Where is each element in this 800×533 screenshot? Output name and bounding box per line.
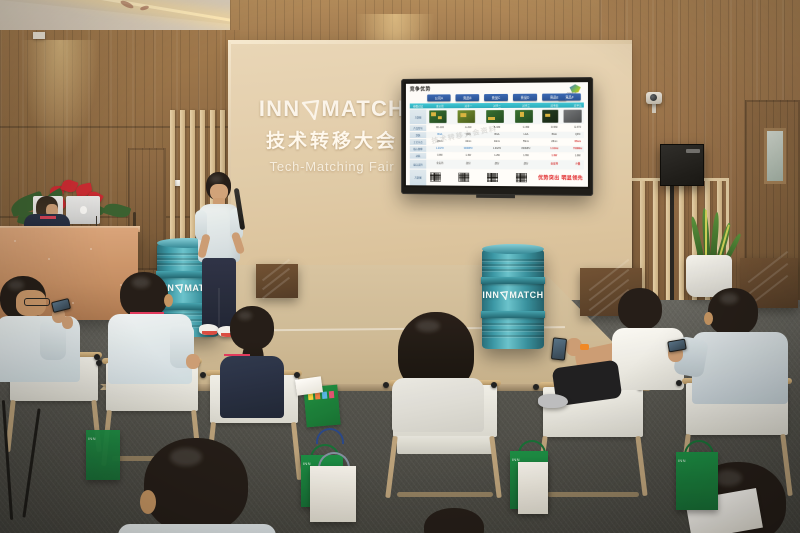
table-cell: 全支持 bbox=[427, 161, 452, 165]
right-barrel: INN MATCH bbox=[482, 249, 544, 349]
screen-foot bbox=[476, 195, 514, 198]
conference-photo-scene: INN MATCH 技术转移大会 Tech-Matching Fair 竞争优势… bbox=[0, 0, 800, 533]
laptop-logo-icon bbox=[80, 206, 87, 214]
brand-chinese-title: 技术转移大会 bbox=[252, 126, 412, 153]
table-cell: 1.0GHz bbox=[484, 147, 510, 150]
row-label: 封装 bbox=[410, 132, 426, 138]
audience-hand bbox=[186, 354, 200, 369]
header-cell: 对手四 bbox=[542, 103, 566, 107]
table-cell: 部分 bbox=[456, 161, 482, 165]
slide-column-badge: 公司A bbox=[427, 94, 450, 101]
header-cell: 对手二 bbox=[484, 104, 510, 108]
smartphone-2[interactable] bbox=[551, 337, 567, 360]
row-label: 接口支持 bbox=[410, 160, 426, 169]
brand-paperplane-icon bbox=[301, 99, 320, 119]
table-cell: D-560 bbox=[542, 126, 566, 129]
row-label: 产品型号 bbox=[410, 125, 426, 131]
white-tote-bag-2 bbox=[518, 462, 548, 514]
highlight-label: 优势突出 bbox=[538, 174, 559, 181]
brand-wordmark: INN MATCH bbox=[252, 98, 412, 120]
door-window bbox=[764, 128, 786, 184]
table-cell: BGA bbox=[542, 133, 566, 136]
barrel-paperplane-icon bbox=[500, 291, 508, 300]
slide-table-row: 核心频率 1.2GHz 900MHz 1.0GHz 800MHz 1.1GHz … bbox=[410, 146, 584, 152]
glasses-icon bbox=[24, 298, 50, 306]
slide-column-badge: 竞品F bbox=[558, 93, 580, 100]
audience-hand bbox=[62, 316, 73, 329]
presentation-screen: 竞争优势 创新矩阵 公司A 竞品B 竞品C 竞品D 竞品E 竞品F 参数对比 本… bbox=[401, 77, 593, 196]
brand-name-part1: INN bbox=[259, 98, 301, 120]
product-chip-image bbox=[515, 110, 533, 123]
barrel-lid bbox=[482, 244, 544, 254]
wall-branding: INN MATCH 技术转移大会 Tech-Matching Fair bbox=[252, 98, 412, 174]
row-label: 方案图 bbox=[410, 169, 426, 185]
wall-sign bbox=[33, 32, 45, 39]
audience-head bbox=[618, 288, 662, 330]
row-label: 功耗 bbox=[410, 153, 426, 159]
table-cell: 部分 bbox=[513, 161, 539, 165]
table-cell: 40nm bbox=[484, 140, 510, 143]
table-cell: 全支持 bbox=[542, 161, 566, 165]
slide-table-row: 功耗 0.8W 1.4W 1.2W 1.6W 1.0W 1.8W bbox=[410, 153, 584, 160]
product-chip-image bbox=[457, 110, 475, 123]
table-cell: 1.8W bbox=[566, 154, 587, 157]
table-cell: 部分 bbox=[484, 161, 510, 165]
white-tote-bag-1 bbox=[310, 466, 356, 522]
table-cell: 少量 bbox=[566, 161, 587, 165]
camera-lens-icon bbox=[650, 94, 657, 101]
audience-shirt bbox=[118, 524, 276, 533]
table-cell: 1.2W bbox=[484, 154, 510, 157]
audience-ear bbox=[704, 312, 713, 325]
brand-english-subtitle: Tech-Matching Fair bbox=[252, 159, 412, 174]
product-chip-image bbox=[486, 110, 504, 123]
table-cell: 1.1GHz bbox=[542, 147, 566, 150]
table-cell: C-450 bbox=[513, 126, 539, 129]
audience-lanyard bbox=[224, 354, 250, 372]
table-cell: 900MHz bbox=[456, 147, 482, 150]
slide-column-badge: 竞品D bbox=[513, 94, 537, 101]
speaker-stand bbox=[670, 178, 674, 308]
green-tote-bag-3: INN bbox=[676, 452, 718, 510]
header-cell: 本公司 bbox=[427, 104, 452, 108]
wall-light-glow bbox=[20, 40, 100, 160]
audience-shoe bbox=[538, 394, 568, 408]
audience-lanyard bbox=[130, 312, 164, 332]
table-cell: 28nm bbox=[542, 140, 566, 143]
table-cell: XC-100 bbox=[427, 126, 452, 129]
table-cell: 0.8W bbox=[427, 154, 452, 157]
wall-speaker bbox=[660, 144, 704, 186]
highlight-label: 明显领先 bbox=[561, 174, 583, 181]
table-cell: 1.4W bbox=[456, 154, 482, 157]
header-cell: 对手一 bbox=[456, 104, 482, 108]
table-cell: 1.6W bbox=[513, 154, 539, 157]
row-label: 核心频率 bbox=[410, 146, 426, 152]
diagram-block bbox=[430, 173, 441, 182]
right-barrel-logo: INN MATCH bbox=[482, 290, 544, 300]
snake-plant-highlight bbox=[705, 210, 707, 258]
table-cell: 1.0W bbox=[542, 154, 566, 157]
audience-ear bbox=[164, 294, 173, 307]
slide-column-badge: 竞品B bbox=[456, 94, 480, 101]
header-cell: 对手三 bbox=[513, 104, 539, 108]
row-label: 工艺节点 bbox=[410, 139, 426, 145]
camera-mount bbox=[652, 104, 656, 113]
tote-text: INN bbox=[678, 458, 716, 463]
diagram-block bbox=[516, 173, 527, 182]
slide-table-header: 参数对比 本公司 对手一 对手二 对手三 对手四 对手五 bbox=[410, 102, 584, 108]
header-cell: 对手五 bbox=[566, 103, 587, 107]
table-cell: E-670 bbox=[566, 126, 587, 129]
wooden-cabinet-stage bbox=[256, 264, 298, 298]
table-cell: LGA bbox=[513, 133, 539, 136]
table-cell: 65nm bbox=[566, 140, 587, 143]
tote-text: INN bbox=[88, 436, 118, 441]
table-cell: 800MHz bbox=[513, 147, 539, 150]
audience-top bbox=[392, 378, 484, 432]
product-chip-image bbox=[563, 110, 581, 123]
green-tote-bag-4: INN bbox=[86, 430, 120, 480]
shoe-accent bbox=[202, 331, 217, 335]
header-cell: 参数对比 bbox=[410, 104, 426, 108]
slide-content: 竞争优势 创新矩阵 公司A 竞品B 竞品C 竞品D 竞品E 竞品F 参数对比 本… bbox=[406, 82, 588, 187]
table-cell: 1.2GHz bbox=[427, 147, 452, 150]
product-chip-image bbox=[542, 110, 558, 123]
table-cell: 55nm bbox=[513, 140, 539, 143]
table-cell: 700MHz bbox=[566, 147, 587, 150]
slide-table-row: 接口支持 全支持 部分 部分 部分 全支持 少量 bbox=[410, 160, 584, 170]
slide-column-badge: 竞品C bbox=[484, 94, 508, 101]
product-chip-image bbox=[429, 110, 447, 123]
wristband bbox=[580, 344, 589, 350]
diagram-block bbox=[458, 173, 469, 182]
slide-title: 竞争优势 bbox=[410, 86, 431, 93]
row-label: 方案图 bbox=[410, 109, 426, 124]
table-cell: QFN bbox=[566, 133, 587, 136]
trouser-split bbox=[218, 288, 220, 330]
diagram-block bbox=[487, 173, 498, 182]
backdrop-top-edge bbox=[228, 40, 632, 44]
audience-ear bbox=[140, 490, 156, 514]
barrel-paperplane-icon bbox=[175, 284, 183, 293]
brand-name-part2: MATCH bbox=[321, 98, 405, 120]
